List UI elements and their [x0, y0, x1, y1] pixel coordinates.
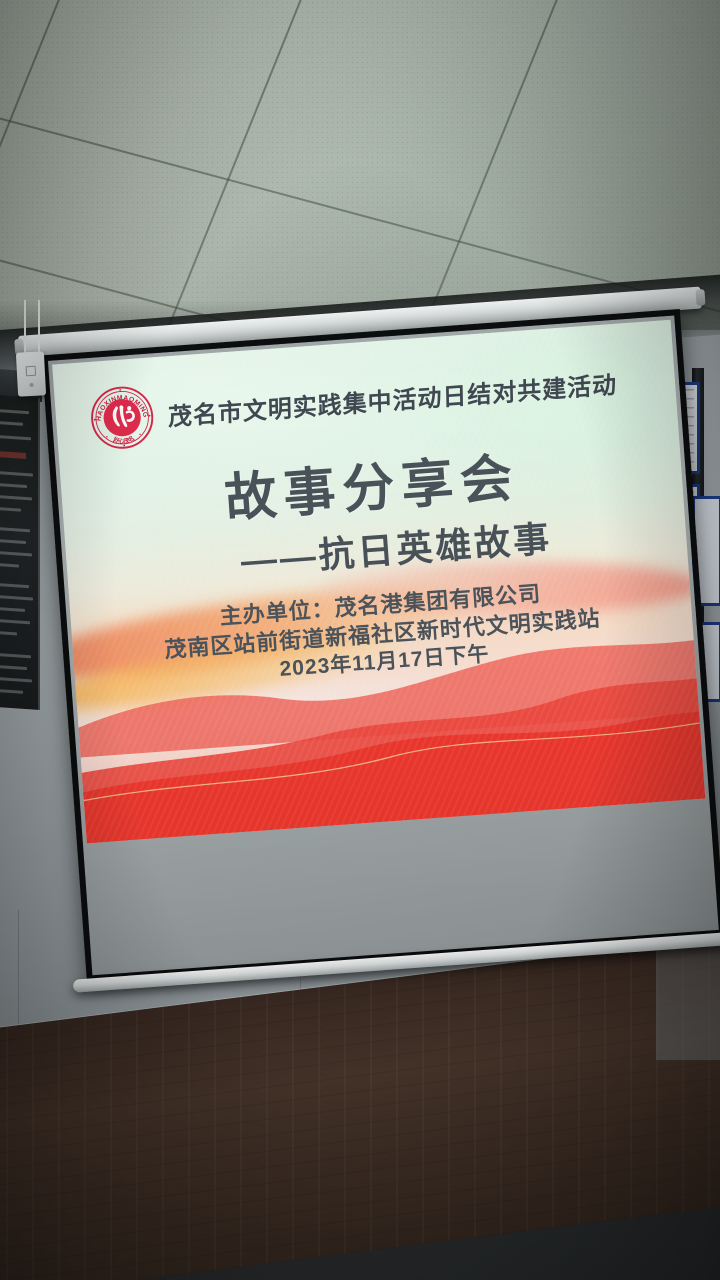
room-scene: HAOXINMAOMING 好心茂名 — [0, 0, 720, 1280]
control-box-cable — [38, 300, 40, 352]
control-box-button-icon[interactable] — [26, 366, 37, 377]
slide-info-block: 主办单位：茂名港集团有限公司 茂南区站前街道新福社区新时代文明实践站 2023年… — [96, 570, 669, 697]
slide-header-title: 茂名市文明实践集中活动日结对共建活动 — [168, 364, 618, 432]
projection-screen-assembly[interactable]: HAOXINMAOMING 好心茂名 — [18, 287, 720, 1035]
screen-control-box[interactable] — [16, 351, 46, 396]
haoxinmaoming-seal-icon: HAOXINMAOMING 好心茂名 — [88, 383, 156, 451]
control-box-indicator-icon — [29, 383, 33, 387]
control-box-cable — [24, 300, 26, 356]
roller-end-cap — [695, 289, 705, 306]
projected-slide: HAOXINMAOMING 好心茂名 — [52, 320, 705, 844]
projection-screen-surface[interactable]: HAOXINMAOMING 好心茂名 — [41, 309, 720, 982]
slide-content: HAOXINMAOMING 好心茂名 — [52, 320, 705, 844]
